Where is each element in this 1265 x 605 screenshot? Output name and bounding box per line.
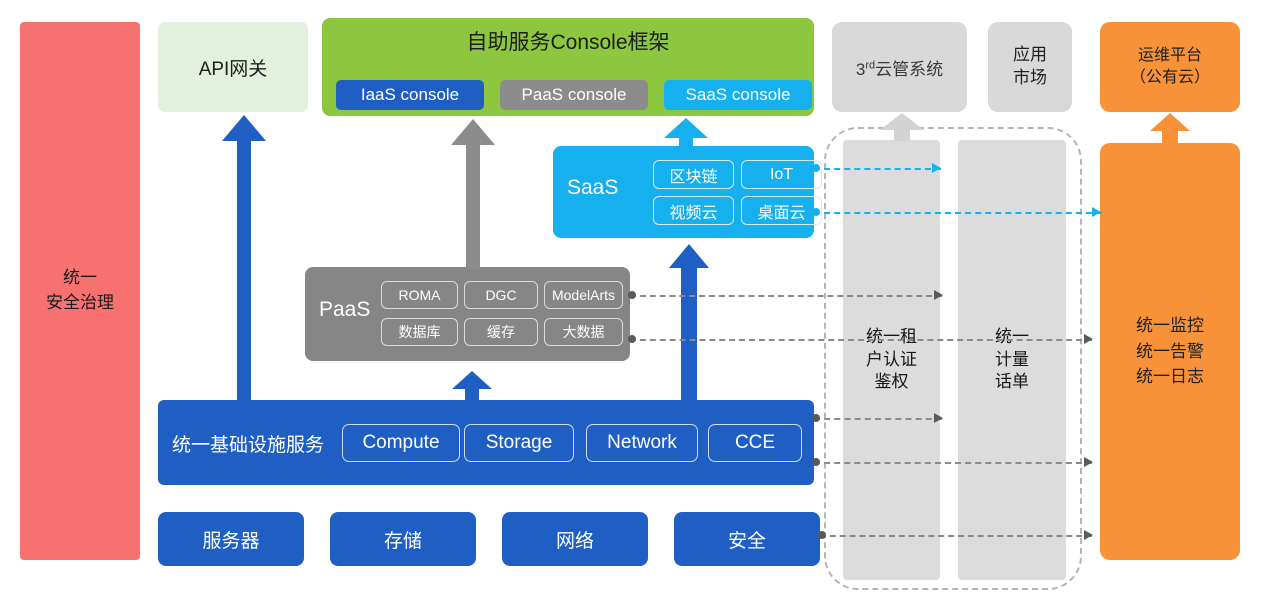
unified-security-governance-panel: 统一 安全治理 bbox=[20, 22, 140, 560]
arrow-saas-to-saas-console bbox=[664, 118, 708, 148]
dashed-dot-paas-2 bbox=[628, 335, 636, 343]
saas-console-chip[interactable]: SaaS console bbox=[664, 80, 812, 110]
console-frame-title: 自助服务Console框架 bbox=[322, 26, 814, 56]
ops-body-line-1: 统一监控 bbox=[1136, 313, 1204, 339]
app-market-line-2: 市场 bbox=[1013, 67, 1047, 90]
arrow-infra-to-api-gateway bbox=[222, 115, 266, 401]
saas-layer-label: SaaS bbox=[567, 176, 618, 200]
dashed-paas-to-ops bbox=[630, 339, 1092, 341]
infra-chip-compute[interactable]: Compute bbox=[342, 424, 460, 462]
dashed-paas-to-auth-column bbox=[630, 295, 942, 297]
meter-line-1: 统一 bbox=[995, 326, 1029, 348]
paas-console-chip[interactable]: PaaS console bbox=[500, 80, 648, 110]
architecture-diagram: 统一 安全治理 API网关 自助服务Console框架 IaaS console… bbox=[0, 0, 1265, 605]
unified-tenant-auth-column: 统一租 户认证 鉴权 bbox=[843, 140, 940, 580]
infra-chip-network[interactable]: Network bbox=[586, 424, 698, 462]
dashed-dot-infra-2 bbox=[812, 458, 820, 466]
saas-chip-iot[interactable]: IoT bbox=[741, 160, 822, 189]
governance-line-2: 安全治理 bbox=[46, 291, 114, 316]
arrowhead-infra-to-auth bbox=[934, 413, 943, 423]
dashed-dot-infra-1 bbox=[812, 414, 820, 422]
paas-layer-label: PaaS bbox=[319, 298, 370, 322]
api-gateway-label: API网关 bbox=[199, 54, 268, 81]
arrowhead-paas-to-ops bbox=[1084, 334, 1093, 344]
paas-layer-box: PaaS ROMA DGC ModelArts 数据库 缓存 大数据 bbox=[305, 267, 630, 361]
ops-body-line-3: 统一日志 bbox=[1136, 364, 1204, 390]
saas-chip-blockchain[interactable]: 区块链 bbox=[653, 160, 734, 189]
unified-infrastructure-bar: 统一基础设施服务 Compute Storage Network CCE bbox=[158, 400, 814, 485]
paas-chip-cache[interactable]: 缓存 bbox=[464, 318, 538, 346]
paas-chip-bigdata[interactable]: 大数据 bbox=[544, 318, 623, 346]
dashed-dot-hardware bbox=[818, 531, 826, 539]
ops-platform-body-panel: 统一监控 统一告警 统一日志 bbox=[1100, 143, 1240, 560]
dashed-saas-to-ops bbox=[814, 212, 1102, 214]
dashed-infra-to-ops bbox=[814, 462, 1092, 464]
third-cloud-label: 3rd云管系统 bbox=[856, 55, 943, 80]
arrowhead-paas-to-auth bbox=[934, 290, 943, 300]
auth-line-1: 统一租 bbox=[866, 326, 917, 348]
governance-line-1: 统一 bbox=[46, 266, 114, 291]
arrow-infra-to-saas bbox=[669, 244, 709, 402]
ops-body-line-2: 统一告警 bbox=[1136, 339, 1204, 365]
arrow-ops-body-to-ops-top bbox=[1150, 113, 1190, 145]
hardware-box-security: 安全 bbox=[674, 512, 820, 566]
infrastructure-label: 统一基础设施服务 bbox=[172, 430, 324, 457]
app-market-line-1: 应用 bbox=[1013, 44, 1047, 67]
iaas-console-chip[interactable]: IaaS console bbox=[336, 80, 484, 110]
paas-chip-roma[interactable]: ROMA bbox=[381, 281, 458, 309]
saas-layer-box: SaaS 区块链 IoT 视频云 桌面云 bbox=[553, 146, 814, 238]
unified-metering-billing-column: 统一 计量 话单 bbox=[958, 140, 1066, 580]
ops-top-line-1: 运维平台 bbox=[1130, 45, 1210, 67]
hardware-box-server: 服务器 bbox=[158, 512, 304, 566]
arrow-infra-to-paas bbox=[452, 371, 492, 401]
meter-line-2: 计量 bbox=[995, 349, 1029, 371]
third-party-cloud-management-box: 3rd云管系统 bbox=[832, 22, 967, 112]
paas-chip-modelarts[interactable]: ModelArts bbox=[544, 281, 623, 309]
app-market-box: 应用 市场 bbox=[988, 22, 1072, 112]
self-service-console-frame: 自助服务Console框架 IaaS console PaaS console … bbox=[322, 18, 814, 116]
dashed-dot-paas-1 bbox=[628, 291, 636, 299]
infra-chip-storage[interactable]: Storage bbox=[464, 424, 574, 462]
saas-chip-video-cloud[interactable]: 视频云 bbox=[653, 196, 734, 225]
auth-line-3: 鉴权 bbox=[866, 371, 917, 393]
paas-chip-database[interactable]: 数据库 bbox=[381, 318, 458, 346]
hardware-box-network: 网络 bbox=[502, 512, 648, 566]
hardware-box-storage: 存储 bbox=[330, 512, 476, 566]
saas-chip-desktop-cloud[interactable]: 桌面云 bbox=[741, 196, 822, 225]
arrow-paas-to-paas-console bbox=[451, 119, 495, 269]
ops-platform-public-cloud-box: 运维平台 （公有云） bbox=[1100, 22, 1240, 112]
api-gateway-box: API网关 bbox=[158, 22, 308, 112]
dashed-dot-saas-2 bbox=[812, 208, 820, 216]
arrowhead-saas-to-ops bbox=[1092, 207, 1101, 217]
ops-top-line-2: （公有云） bbox=[1130, 67, 1210, 89]
arrowhead-infra-to-ops bbox=[1084, 457, 1093, 467]
dashed-infra-to-auth-column bbox=[814, 418, 942, 420]
arrow-shared-to-third-cloud bbox=[880, 113, 924, 141]
paas-chip-dgc[interactable]: DGC bbox=[464, 281, 538, 309]
arrowhead-hardware-to-ops bbox=[1084, 530, 1093, 540]
dashed-saas-to-auth-column bbox=[814, 168, 941, 170]
meter-line-3: 话单 bbox=[995, 371, 1029, 393]
infra-chip-cce[interactable]: CCE bbox=[708, 424, 802, 462]
auth-line-2: 户认证 bbox=[866, 349, 917, 371]
dashed-hardware-to-ops bbox=[820, 535, 1092, 537]
dashed-dot-saas-1 bbox=[812, 164, 820, 172]
arrowhead-saas-to-auth bbox=[932, 163, 941, 173]
